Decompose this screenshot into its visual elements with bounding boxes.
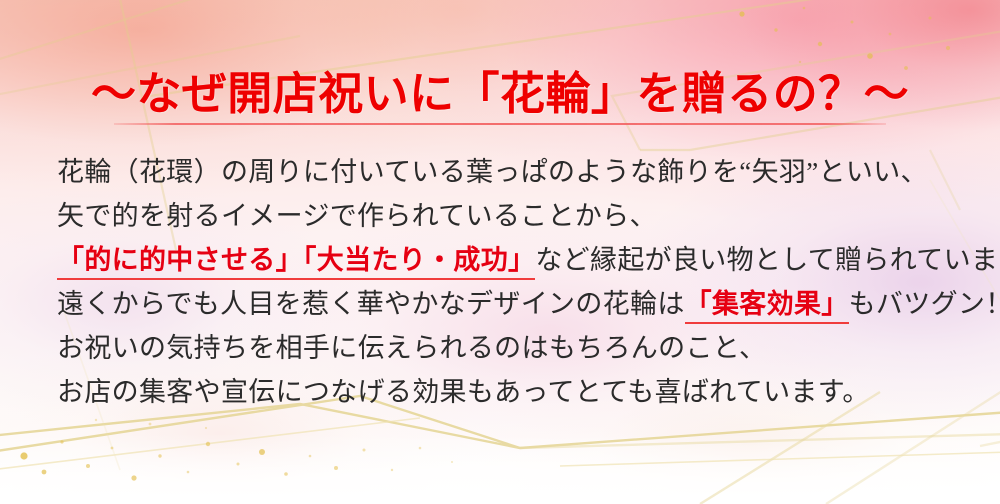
emphasis-phrase-customer-draw: 「集客効果」 [685, 289, 849, 324]
body-line-2: 矢で的を射るイメージで作られていることから、 [57, 194, 987, 238]
body-line-1: 花輪（花環）の周りに付いている葉っぱのような飾りを“矢羽”といい、 [57, 150, 987, 194]
body-line-4: 遠くからでも人目を惹く華やかなデザインの花輪は「集客効果」もバツグン！ [57, 282, 987, 326]
body-text-block: 花輪（花環）の周りに付いている葉っぱのような飾りを“矢羽”といい、 矢で的を射る… [57, 150, 987, 414]
body-line-4-head: 遠くからでも人目を惹く華やかなデザインの花輪は [57, 289, 685, 319]
body-line-5: お祝いの気持ちを相手に伝えられるのはもちろんのこと、 [57, 326, 987, 370]
body-line-6: お店の集客や宣伝につなげる効果もあってとても喜ばれています。 [57, 370, 987, 414]
page-title: 〜なぜ開店祝いに「花輪」を贈るの？〜 [0, 72, 1000, 117]
body-line-5-text: お祝いの気持ちを相手に伝えられるのはもちろんのこと、 [57, 333, 766, 363]
body-line-2-text: 矢で的を射るイメージで作られていることから、 [57, 201, 657, 231]
body-line-3: 「的に的中させる」「大当たり・成功」など縁起が良い物として贈られています。 [57, 238, 987, 282]
headline-divider-rule [114, 123, 886, 125]
headline-container: 〜なぜ開店祝いに「花輪」を贈るの？〜 [0, 72, 1000, 117]
emphasis-phrase-big-win: 「大当たり・成功」 [303, 245, 535, 280]
banner-content: 〜なぜ開店祝いに「花輪」を贈るの？〜 花輪（花環）の周りに付いている葉っぱのよう… [0, 0, 1000, 504]
body-line-6-text: お店の集客や宣伝につなげる効果もあってとても喜ばれています。 [57, 377, 870, 407]
body-line-1-text: 花輪（花環）の周りに付いている葉っぱのような飾りを“矢羽”といい、 [57, 157, 928, 187]
promotional-banner: 〜なぜ開店祝いに「花輪」を贈るの？〜 花輪（花環）の周りに付いている葉っぱのよう… [0, 0, 1000, 504]
body-line-4-tail: もバツグン！ [849, 289, 1000, 319]
body-line-3-tail: など縁起が良い物として贈られています。 [535, 245, 1000, 275]
emphasis-phrase-target-hit: 「的に的中させる」 [57, 245, 303, 280]
